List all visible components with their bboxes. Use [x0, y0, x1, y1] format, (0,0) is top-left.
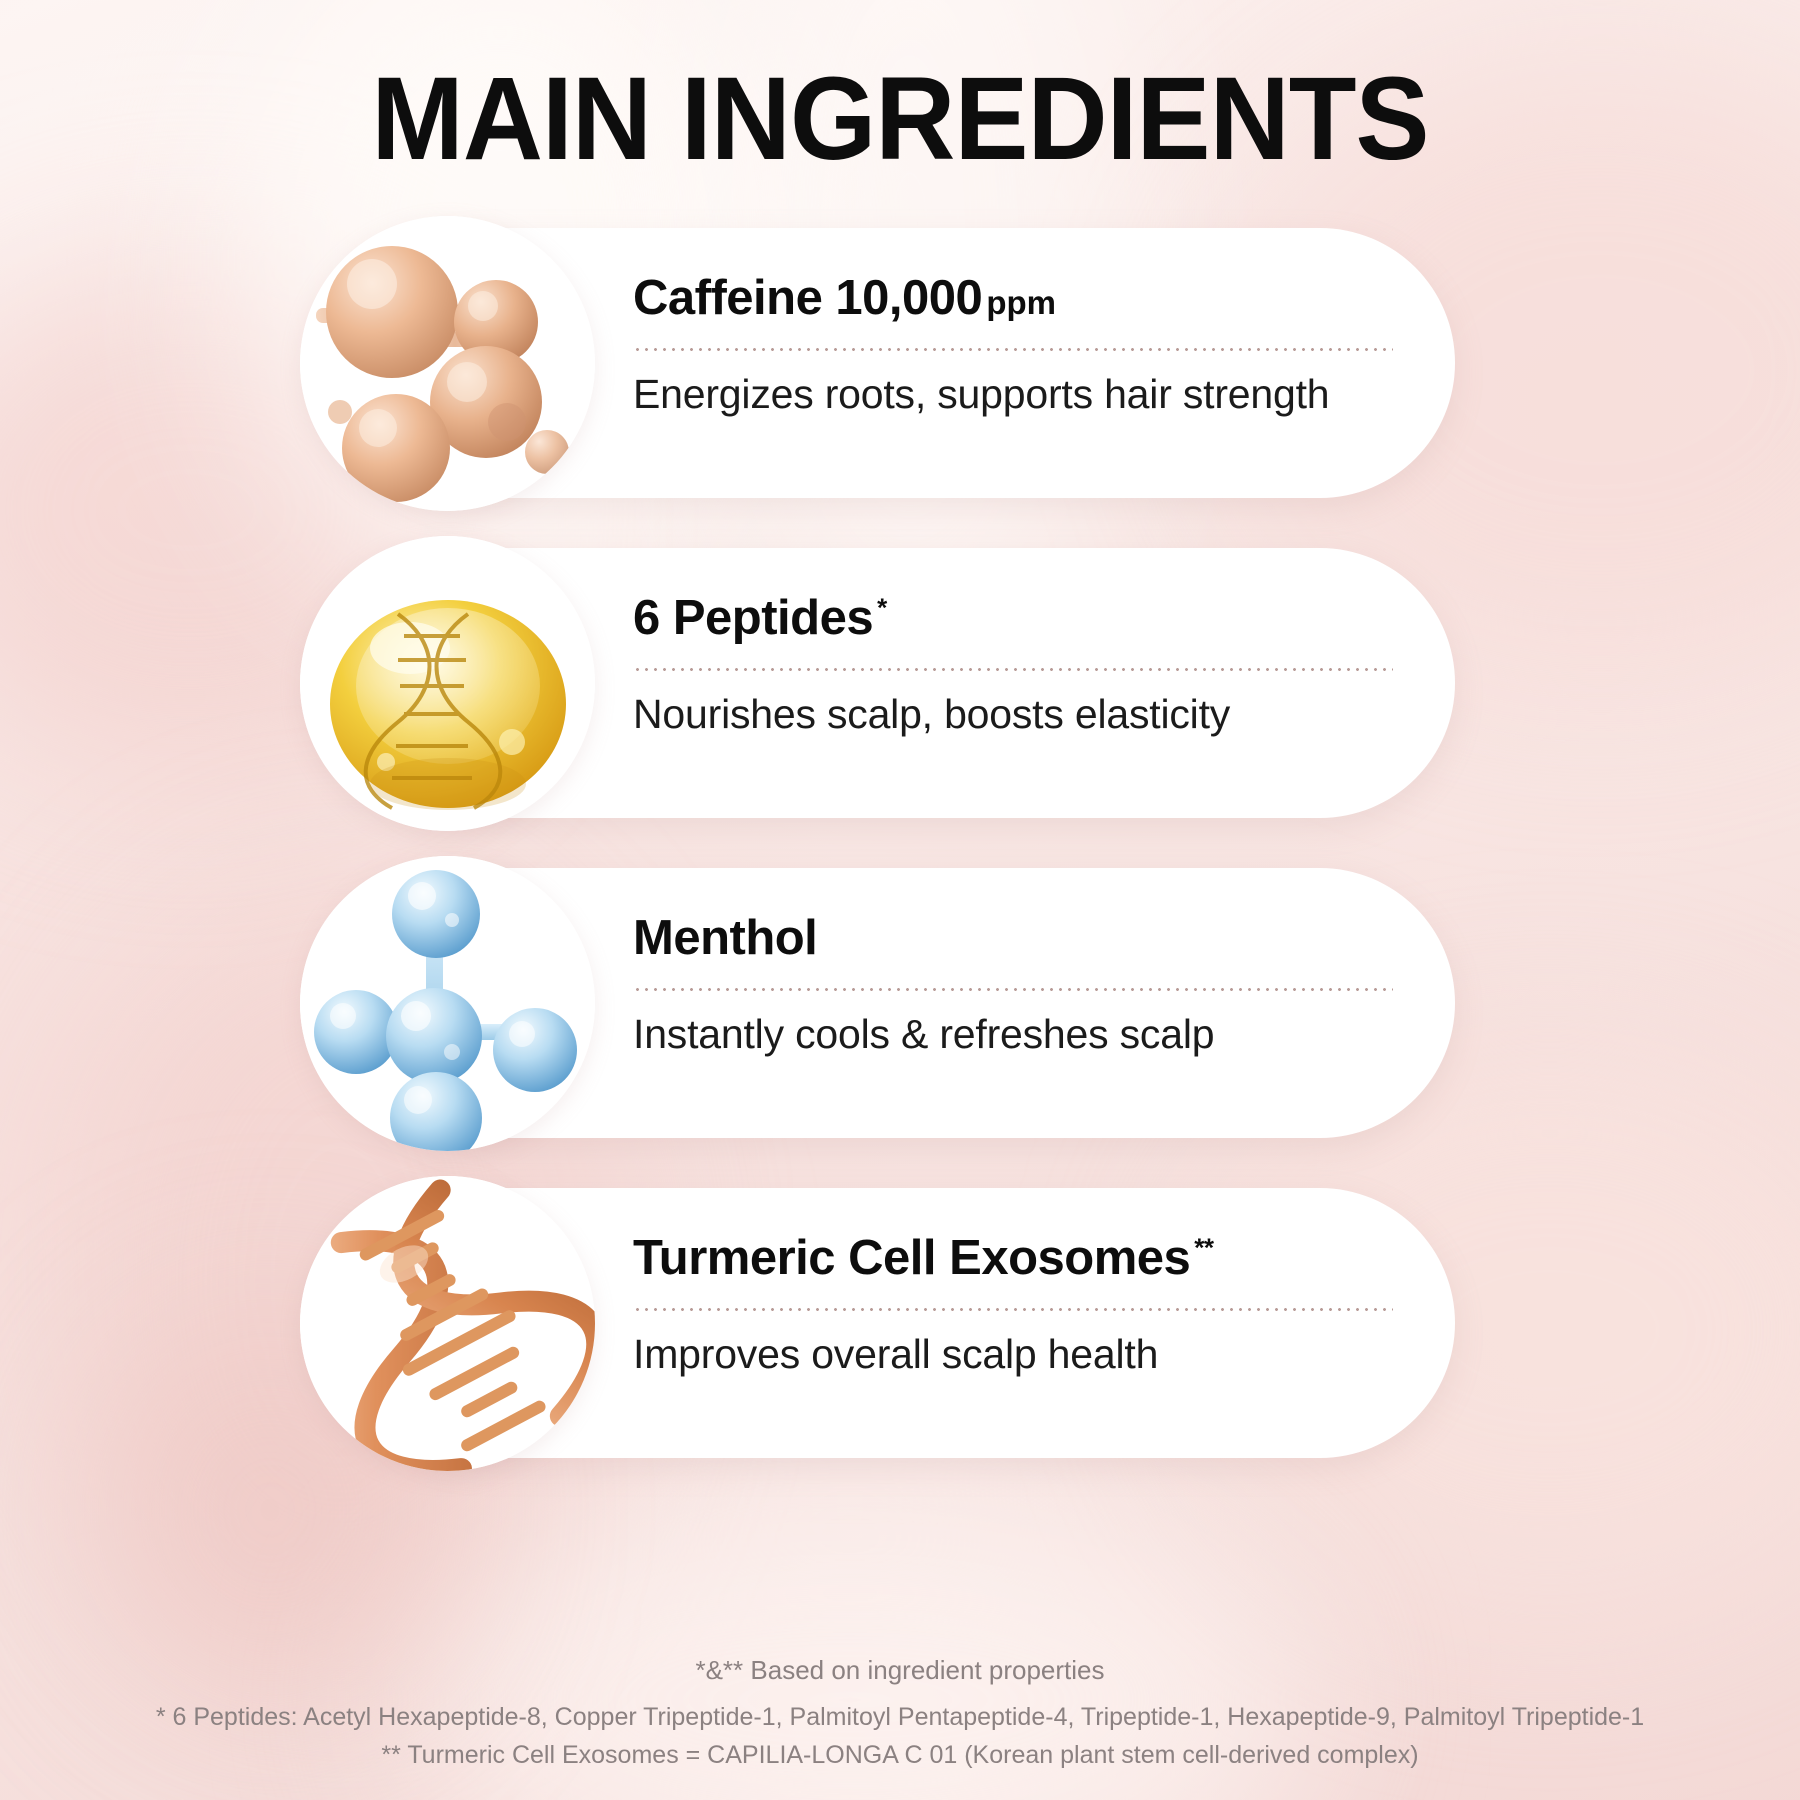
ingredient-card-menthol[interactable]: Menthol Instantly cools & refreshes scal… — [345, 868, 1455, 1138]
ingredient-card-list: Caffeine 10,000ppm Energizes roots, supp… — [0, 228, 1800, 1458]
footnote-line: *&** Based on ingredient properties — [0, 1651, 1800, 1690]
ingredient-card-peptides[interactable]: 6 Peptides* Nourishes scalp, boosts elas… — [345, 548, 1455, 818]
page-title: MAIN INGREDIENTS — [54, 60, 1746, 178]
ingredient-text-block: Turmeric Cell Exosomes** Improves overal… — [633, 1232, 1393, 1378]
dotted-divider — [633, 1308, 1393, 1311]
ingredient-description: Instantly cools & refreshes scalp — [633, 1011, 1393, 1058]
footnote-block: *&** Based on ingredient properties * 6 … — [0, 1651, 1800, 1774]
ingredient-description: Nourishes scalp, boosts elasticity — [633, 691, 1393, 738]
golden-peptide-droplet-icon — [300, 536, 595, 831]
infographic-page: MAIN INGREDIENTS — [0, 0, 1800, 1800]
ingredient-title: Turmeric Cell Exosomes** — [633, 1232, 1393, 1285]
ingredient-description: Energizes roots, supports hair strength — [633, 371, 1393, 418]
ingredient-text-block: Menthol Instantly cools & refreshes scal… — [633, 912, 1393, 1058]
dotted-divider — [633, 348, 1393, 351]
ingredient-title: 6 Peptides* — [633, 592, 1393, 645]
ingredient-card-caffeine[interactable]: Caffeine 10,000ppm Energizes roots, supp… — [345, 228, 1455, 498]
ingredient-title-text: 6 Peptides — [633, 591, 873, 645]
ingredient-title-text: Menthol — [633, 911, 817, 965]
ingredient-title-text: Caffeine 10,000 — [633, 271, 982, 325]
copper-dna-helix-icon — [300, 1176, 595, 1471]
ingredient-title: Caffeine 10,000ppm — [633, 272, 1393, 325]
ingredient-title-text: Turmeric Cell Exosomes — [633, 1231, 1190, 1285]
rose-gold-molecule-spheres-icon — [300, 216, 595, 511]
dotted-divider — [633, 988, 1393, 991]
footnote-line: ** Turmeric Cell Exosomes = CAPILIA-LONG… — [0, 1737, 1800, 1775]
ingredient-text-block: 6 Peptides* Nourishes scalp, boosts elas… — [633, 592, 1393, 738]
ingredient-description: Improves overall scalp health — [633, 1331, 1393, 1378]
dotted-divider — [633, 668, 1393, 671]
blue-menthol-molecule-icon — [300, 856, 595, 1151]
ingredient-card-turmeric[interactable]: Turmeric Cell Exosomes** Improves overal… — [345, 1188, 1455, 1458]
ingredient-title: Menthol — [633, 912, 1393, 965]
ingredient-footnote-marker: ** — [1194, 1233, 1213, 1263]
ingredient-text-block: Caffeine 10,000ppm Energizes roots, supp… — [633, 272, 1393, 418]
ingredient-unit: ppm — [986, 284, 1056, 321]
footnote-line: * 6 Peptides: Acetyl Hexapeptide-8, Copp… — [0, 1699, 1800, 1737]
ingredient-footnote-marker: * — [877, 593, 887, 623]
